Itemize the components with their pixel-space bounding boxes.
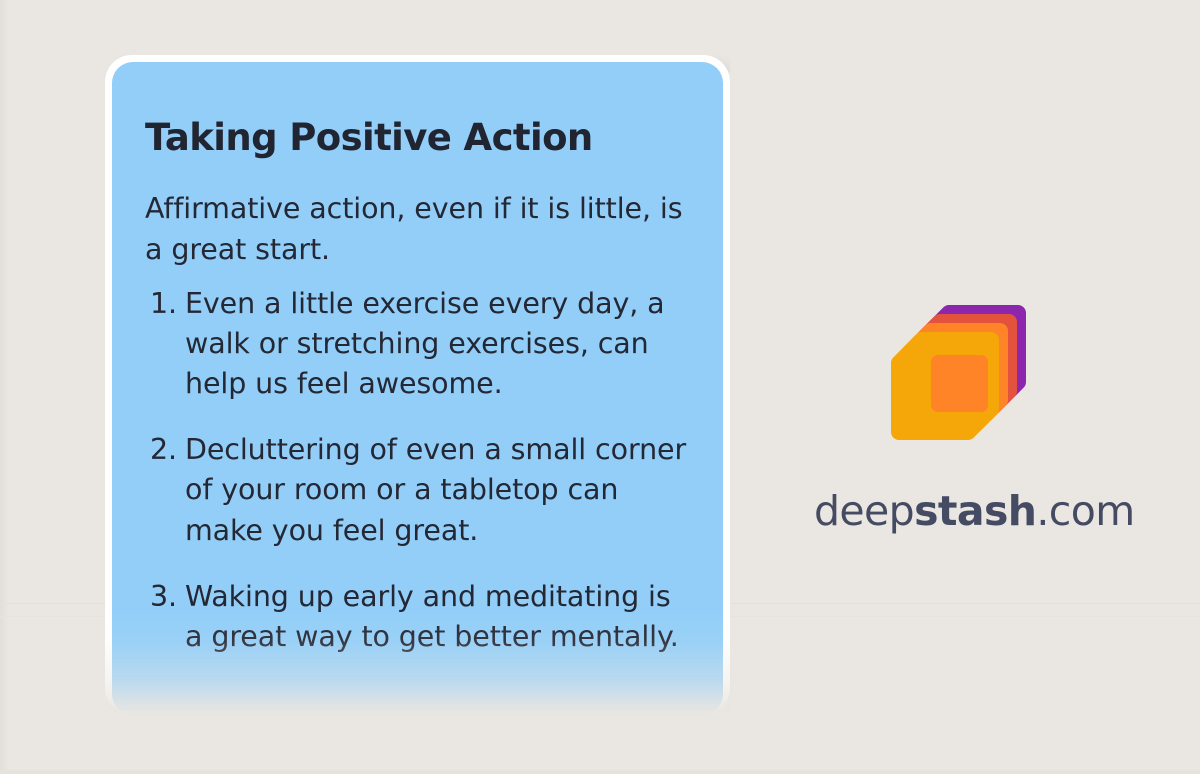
background-bottom-band [0, 770, 1200, 774]
list-item: 3. Waking up early and meditating is a g… [145, 577, 693, 657]
list-item-text: Decluttering of even a small corner of y… [185, 433, 686, 546]
list-item-text: Even a little exercise every day, a walk… [185, 287, 665, 400]
wordmark-stash: stash [914, 487, 1036, 535]
wordmark-deep: deep [814, 487, 914, 535]
idea-card[interactable]: Taking Positive Action Affirmative actio… [105, 55, 730, 715]
deepstash-logo-icon [889, 296, 1039, 448]
deepstash-wordmark: deepstash.com [814, 491, 1114, 532]
wordmark-dotcom: .com [1036, 487, 1134, 535]
page-title: Taking Positive Action [145, 117, 693, 158]
list-item-number: 3. [150, 577, 180, 617]
card-body[interactable]: Taking Positive Action Affirmative actio… [112, 62, 723, 715]
brand-block: deepstash.com [814, 296, 1114, 532]
list-item: 1. Even a little exercise every day, a w… [145, 284, 693, 405]
background-left-strip [0, 0, 9, 774]
list-item-text: Waking up early and meditating is a grea… [185, 580, 679, 653]
card-numbered-list: 1. Even a little exercise every day, a w… [145, 284, 693, 657]
card-lead-paragraph: Affirmative action, even if it is little… [145, 189, 693, 269]
stacked-squares-icon [889, 296, 1039, 448]
list-item: 2. Decluttering of even a small corner o… [145, 430, 693, 551]
list-item-number: 1. [150, 284, 180, 324]
list-item-number: 2. [150, 430, 180, 470]
